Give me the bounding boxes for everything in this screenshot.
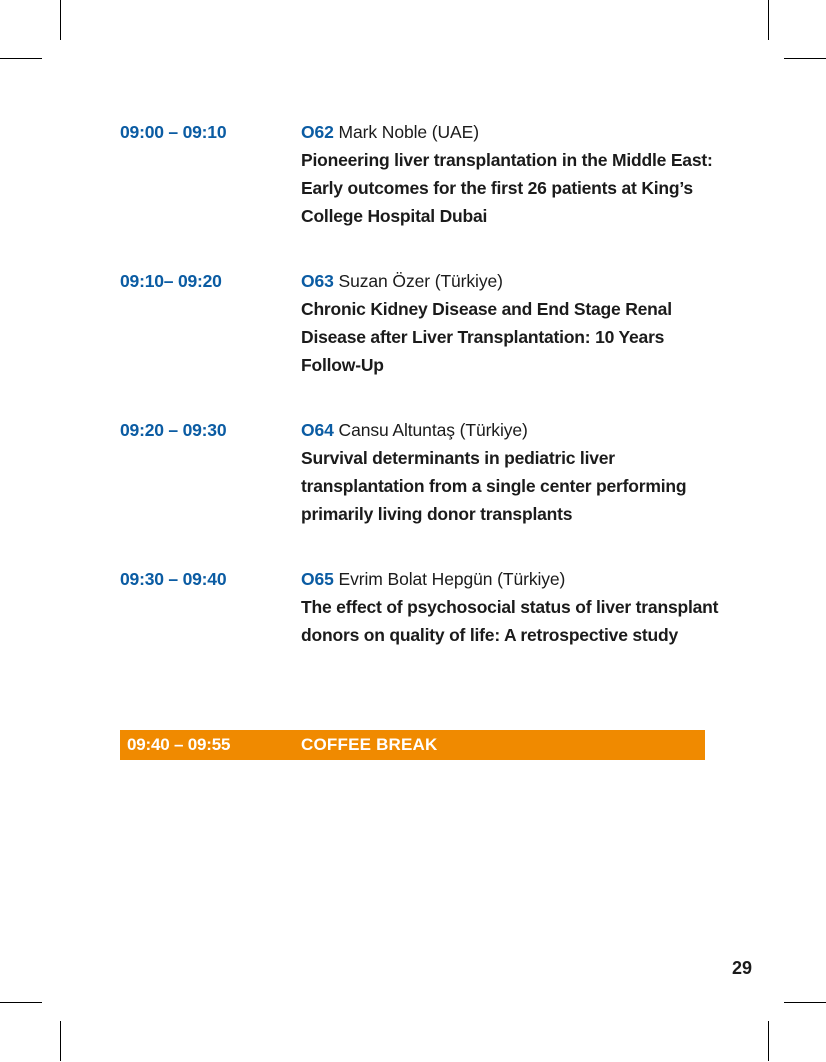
session-item: 09:20 – 09:30 O64 Cansu Altuntaş (Türkiy… bbox=[120, 416, 720, 528]
crop-mark-bottom-left-horizontal bbox=[0, 1002, 42, 1003]
page-canvas: 09:00 – 09:10 O62 Mark Noble (UAE) Pione… bbox=[0, 0, 826, 1062]
session-time: 09:10– 09:20 bbox=[120, 267, 301, 295]
session-item: 09:30 – 09:40 O65 Evrim Bolat Hepgün (Tü… bbox=[120, 565, 720, 649]
session-speaker-line: O65 Evrim Bolat Hepgün (Türkiye) bbox=[301, 565, 720, 593]
crop-mark-top-right-vertical bbox=[768, 0, 769, 40]
session-item: 09:10– 09:20 O63 Suzan Özer (Türkiye) Ch… bbox=[120, 267, 720, 379]
page-number: 29 bbox=[0, 958, 752, 979]
session-code: O63 bbox=[301, 271, 334, 291]
session-title: Chronic Kidney Disease and End Stage Ren… bbox=[301, 295, 720, 379]
session-speaker-name: Cansu Altuntaş (Türkiye) bbox=[339, 420, 528, 440]
session-code: O62 bbox=[301, 122, 334, 142]
coffee-break-bar: 09:40 – 09:55 COFFEE BREAK bbox=[120, 730, 705, 760]
session-item: 09:00 – 09:10 O62 Mark Noble (UAE) Pione… bbox=[120, 118, 720, 230]
crop-mark-bottom-left-vertical bbox=[60, 1021, 61, 1061]
session-time: 09:30 – 09:40 bbox=[120, 565, 301, 593]
crop-mark-bottom-right-vertical bbox=[768, 1021, 769, 1061]
session-title: Survival determinants in pediatric liver… bbox=[301, 444, 720, 528]
coffee-break-time: 09:40 – 09:55 bbox=[120, 735, 301, 755]
session-time: 09:00 – 09:10 bbox=[120, 118, 301, 146]
session-speaker-line: O63 Suzan Özer (Türkiye) bbox=[301, 267, 720, 295]
coffee-break-label: COFFEE BREAK bbox=[301, 735, 438, 755]
crop-mark-bottom-right-horizontal bbox=[784, 1002, 826, 1003]
session-time: 09:20 – 09:30 bbox=[120, 416, 301, 444]
session-title: The effect of psychosocial status of liv… bbox=[301, 593, 720, 649]
session-body: O64 Cansu Altuntaş (Türkiye) Survival de… bbox=[301, 416, 720, 528]
session-list: 09:00 – 09:10 O62 Mark Noble (UAE) Pione… bbox=[120, 118, 720, 649]
session-speaker-name: Mark Noble (UAE) bbox=[339, 122, 479, 142]
crop-mark-top-right-horizontal bbox=[784, 58, 826, 59]
crop-mark-top-left-vertical bbox=[60, 0, 61, 40]
crop-mark-top-left-horizontal bbox=[0, 58, 42, 59]
session-speaker-name: Evrim Bolat Hepgün (Türkiye) bbox=[339, 569, 566, 589]
session-title: Pioneering liver transplantation in the … bbox=[301, 146, 720, 230]
session-speaker-line: O62 Mark Noble (UAE) bbox=[301, 118, 720, 146]
session-code: O64 bbox=[301, 420, 334, 440]
session-body: O62 Mark Noble (UAE) Pioneering liver tr… bbox=[301, 118, 720, 230]
session-code: O65 bbox=[301, 569, 334, 589]
session-speaker-line: O64 Cansu Altuntaş (Türkiye) bbox=[301, 416, 720, 444]
session-speaker-name: Suzan Özer (Türkiye) bbox=[339, 271, 503, 291]
session-body: O65 Evrim Bolat Hepgün (Türkiye) The eff… bbox=[301, 565, 720, 649]
session-body: O63 Suzan Özer (Türkiye) Chronic Kidney … bbox=[301, 267, 720, 379]
